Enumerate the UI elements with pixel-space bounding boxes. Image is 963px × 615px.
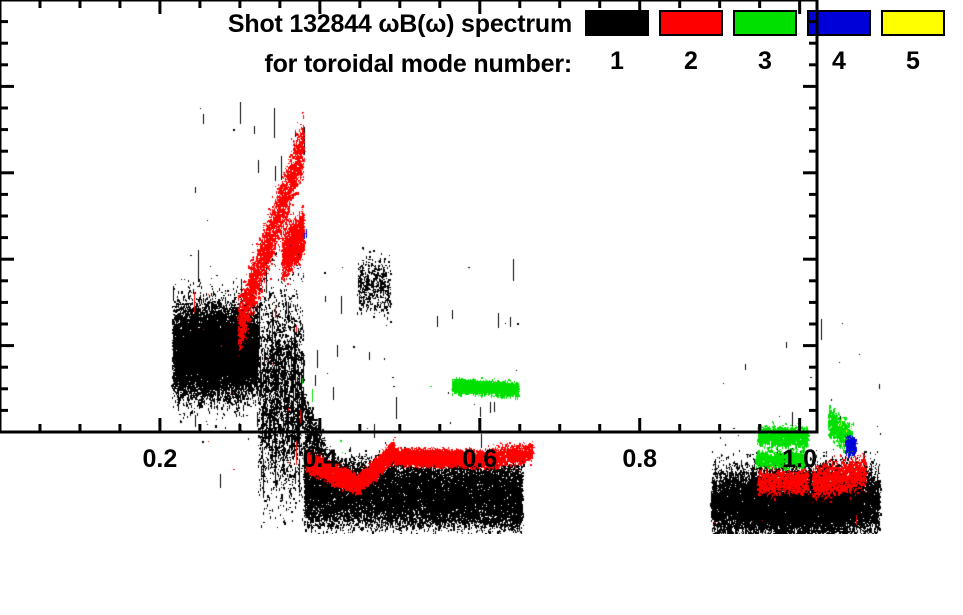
legend-label-4: 4: [807, 48, 871, 74]
legend-swatch-3: [733, 10, 797, 36]
legend-label-2: 2: [659, 48, 723, 74]
legend-swatch-2: [659, 10, 723, 36]
legend-item-3[interactable]: 3: [733, 10, 797, 74]
legend-item-2[interactable]: 2: [659, 10, 723, 74]
spectrogram-canvas: [118, 102, 935, 534]
legend-item-4[interactable]: 4: [807, 10, 871, 74]
plot-area: [118, 102, 935, 534]
legend-item-5[interactable]: 5: [881, 10, 945, 74]
legend-label-3: 3: [733, 48, 797, 74]
legend-label-5: 5: [881, 48, 945, 74]
legend-label-1: 1: [585, 48, 649, 74]
spectrogram-figure: Shot 132844 ωB(ω) spectrum for toroidal …: [0, 0, 963, 615]
legend-swatch-5: [881, 10, 945, 36]
legend-swatch-1: [585, 10, 649, 36]
figure-title-line-2: for toroidal mode number:: [0, 50, 572, 79]
legend-swatch-4: [807, 10, 871, 36]
mode-number-legend: 12345: [585, 0, 963, 86]
figure-title-line-1: Shot 132844 ωB(ω) spectrum: [0, 10, 572, 39]
legend-item-1[interactable]: 1: [585, 10, 649, 74]
